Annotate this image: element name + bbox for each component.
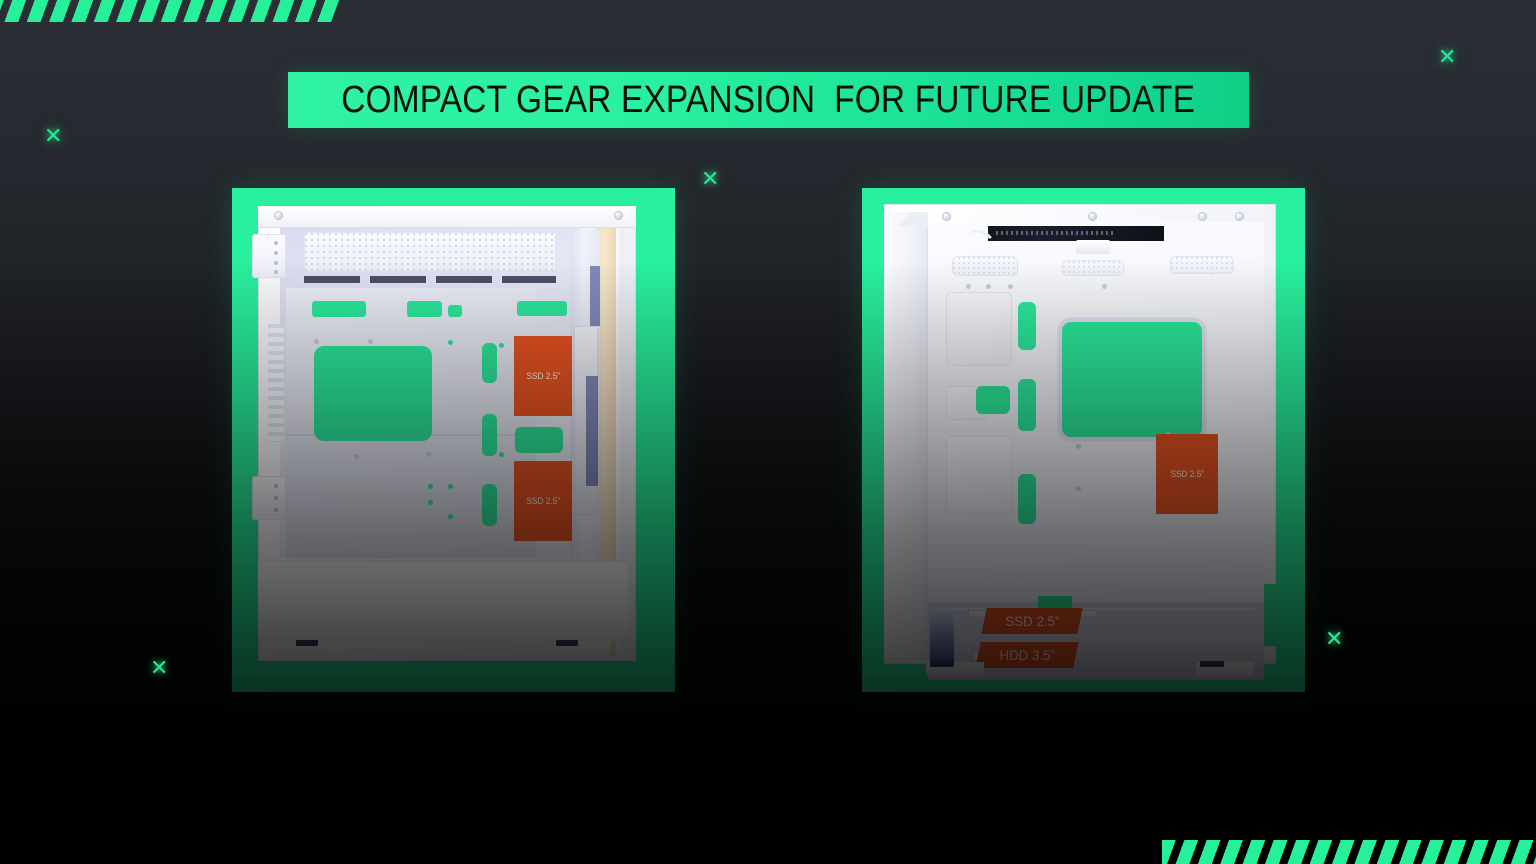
decor-x-mark-top-right: ✕ bbox=[1438, 47, 1456, 69]
cutout-side-a bbox=[482, 343, 497, 383]
cutout-tray-large bbox=[1062, 322, 1202, 437]
screw-tray-2 bbox=[368, 339, 373, 344]
standoff-marker-4 bbox=[428, 484, 433, 489]
decor-x-mark-center-top: ✕ bbox=[701, 169, 719, 191]
cutout-r-b bbox=[1018, 379, 1036, 431]
screw-r-tr1 bbox=[1198, 212, 1207, 221]
hdd-bay-label: HDD 3.5” bbox=[975, 642, 1079, 668]
vent-right bbox=[1170, 256, 1234, 274]
case-image-right: SSD 2.5” SSD 2.5” HDD 3.5” bbox=[862, 188, 1305, 692]
vent-center bbox=[1062, 260, 1124, 276]
ssd-label-right-text: SSD 2.5” bbox=[1170, 469, 1204, 479]
tray-recess-upper bbox=[946, 292, 1012, 366]
case-foot-left bbox=[268, 641, 324, 655]
decor-x-mark-bottom-left: ✕ bbox=[150, 658, 168, 680]
screw-tray-4 bbox=[354, 454, 359, 459]
pc-case-rear-tray-view-panel: SSD 2.5” SSD 2.5” HDD 3.5” bbox=[862, 188, 1305, 692]
screw-top-right bbox=[614, 211, 623, 220]
screw-r-tl bbox=[942, 212, 951, 221]
decor-stripes-top-left bbox=[0, 0, 340, 22]
screw-r-1 bbox=[966, 284, 971, 289]
rear-shadow-1 bbox=[590, 266, 600, 326]
side-vent-standoffs bbox=[268, 324, 284, 442]
screw-r-tr2 bbox=[1235, 212, 1244, 221]
case-side-panel-edge bbox=[884, 212, 928, 660]
ssd-label-upper-left-case: SSD 2.5” bbox=[514, 336, 572, 416]
decor-x-mark-bottom-right: ✕ bbox=[1325, 629, 1343, 651]
screw-r-6 bbox=[1076, 444, 1081, 449]
psu-shroud bbox=[258, 561, 628, 641]
page-title: COMPACT GEAR EXPANSION FOR FUTURE UPDATE bbox=[342, 79, 1196, 122]
screw-tray-3 bbox=[426, 452, 431, 457]
pc-case-side-view-panel: SSD 2.5” SSD 2.5” bbox=[232, 188, 675, 692]
cutout-r-d bbox=[976, 386, 1010, 414]
top-vent-slots bbox=[304, 276, 556, 283]
case-top-frame bbox=[258, 206, 636, 228]
case-foot-r-left bbox=[926, 662, 984, 676]
cutout-bay-top-edge bbox=[1038, 596, 1072, 608]
cutout-top-left bbox=[312, 301, 366, 317]
cpu-cutout-large bbox=[314, 346, 432, 441]
tray-recess-lower bbox=[946, 436, 1012, 514]
hdd-bay-label-text: HDD 3.5” bbox=[999, 647, 1054, 663]
top-mesh-filter bbox=[304, 232, 556, 272]
ssd-label-lower-left-case: SSD 2.5” bbox=[514, 461, 572, 541]
screw-top-left bbox=[274, 211, 283, 220]
case-foot-r-right bbox=[1196, 662, 1254, 676]
cutout-top-right bbox=[517, 301, 567, 316]
ssd-label-upper-left-text: SSD 2.5” bbox=[526, 371, 560, 381]
cutout-top-mid-a bbox=[407, 301, 442, 317]
front-io-pcb bbox=[988, 226, 1164, 241]
rear-shadow-2 bbox=[586, 376, 598, 486]
standoff-marker-6 bbox=[448, 514, 453, 519]
standoff-marker-2 bbox=[499, 343, 504, 348]
case-foot-right bbox=[554, 641, 610, 655]
standoff-marker-3 bbox=[499, 452, 504, 457]
slide-title-bar: COMPACT GEAR EXPANSION FOR FUTURE UPDATE bbox=[288, 72, 1249, 128]
screw-r-7 bbox=[1076, 486, 1081, 491]
cutout-r-c bbox=[1018, 474, 1036, 524]
screw-r-tm bbox=[1088, 212, 1097, 221]
screw-r-4 bbox=[1102, 284, 1107, 289]
screw-r-3 bbox=[1008, 284, 1013, 289]
cutout-bay-right-edge bbox=[1264, 584, 1278, 646]
cutout-mid-right bbox=[515, 427, 563, 453]
ssd-bay-label-text: SSD 2.5” bbox=[1005, 613, 1059, 629]
ssd-bay-label: SSD 2.5” bbox=[981, 608, 1083, 634]
decor-stripes-bottom-right bbox=[1162, 840, 1536, 864]
screw-r-2 bbox=[986, 284, 991, 289]
decor-x-mark-left: ✕ bbox=[44, 126, 62, 148]
cutout-side-c bbox=[482, 484, 497, 526]
panel-hinge-tab-top bbox=[252, 234, 286, 278]
background-plus-grid bbox=[0, 0, 1536, 864]
ssd-label-lower-left-text: SSD 2.5” bbox=[526, 496, 560, 506]
screw-tray-1 bbox=[314, 339, 319, 344]
cable-connector bbox=[1076, 240, 1110, 254]
case-image-left: SSD 2.5” SSD 2.5” bbox=[232, 188, 675, 692]
standoff-marker-1 bbox=[448, 340, 453, 345]
cutout-r-a bbox=[1018, 302, 1036, 350]
standoff-marker-7 bbox=[448, 484, 453, 489]
slide-canvas: SSD 2.5” SSD 2.5” bbox=[0, 0, 1536, 864]
panel-hinge-tab-bottom bbox=[252, 476, 286, 520]
vent-left bbox=[952, 256, 1018, 276]
cutout-top-mid-b bbox=[448, 305, 462, 317]
cutout-side-b bbox=[482, 414, 497, 456]
standoff-marker-5 bbox=[428, 500, 433, 505]
ssd-label-right-case: SSD 2.5” bbox=[1156, 434, 1218, 514]
